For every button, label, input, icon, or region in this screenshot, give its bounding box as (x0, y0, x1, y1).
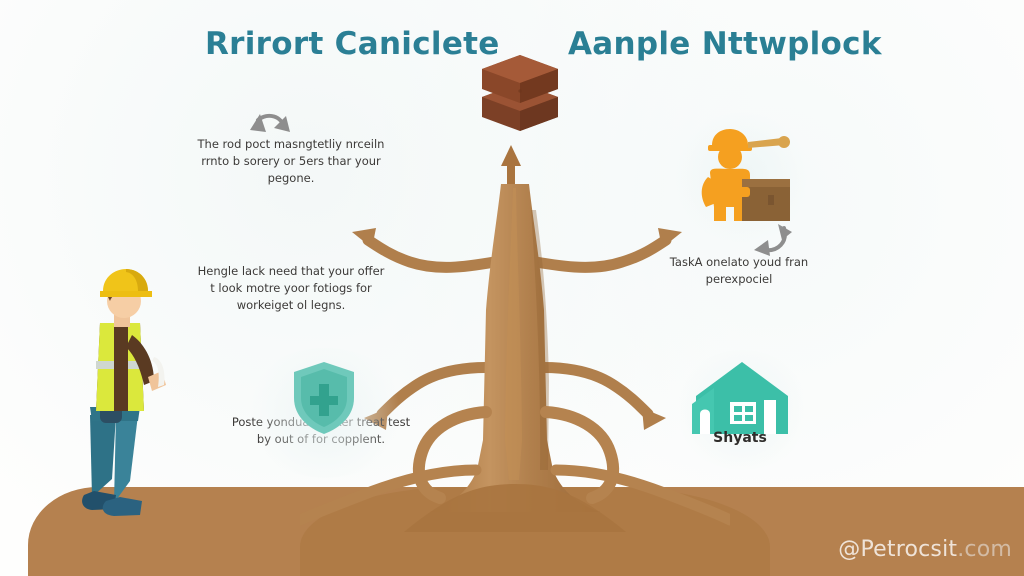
watermark-prefix: @Petrocsit (838, 537, 957, 562)
watermark: @Petrocsit.com (838, 537, 1012, 562)
note-text-upper-right: TaskA onelato youd fran perexpociel (650, 254, 828, 288)
construction-worker-figure (70, 265, 182, 525)
worker-carrying-box-icon (690, 125, 794, 229)
shield-check-icon (288, 358, 360, 442)
note-text-middle-left: Hengle lack need that your offer t look … (196, 263, 386, 314)
house-icon-caption: Shyats (660, 430, 820, 446)
stacked-bricks-icon (472, 45, 568, 135)
tree-trunk-roots-diagram (300, 140, 730, 540)
infographic-canvas: Rrirort Caniclete Aanple Nttwplock (0, 0, 1024, 576)
note-text-upper-left: The rod poct masngtetliy nrceiln rrnto b… (196, 136, 386, 187)
page-title-right: Aanple Nttwplock (568, 26, 882, 62)
page-title-left: Rrirort Caniclete (205, 26, 500, 62)
growth-arrow-up (501, 145, 521, 184)
watermark-suffix: .com (957, 537, 1012, 562)
